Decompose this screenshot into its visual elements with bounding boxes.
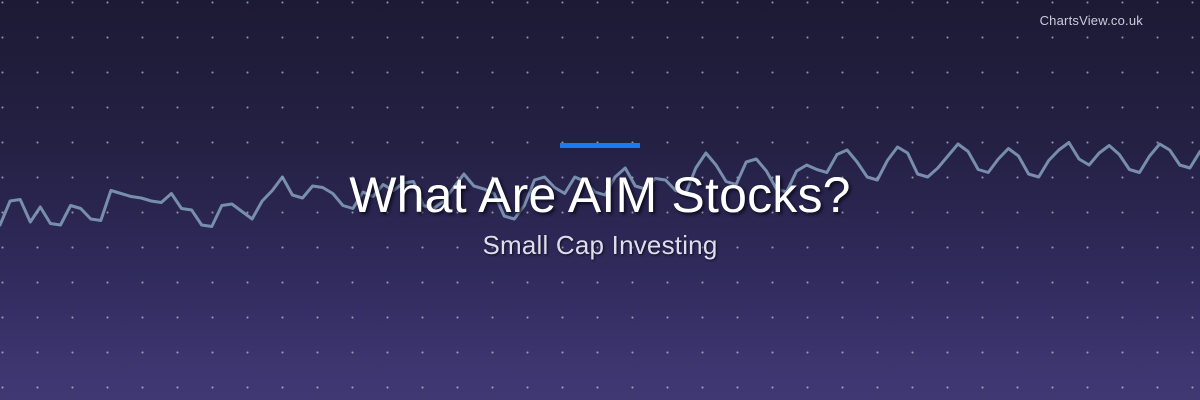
accent-bar xyxy=(560,143,640,148)
page-title: What Are AIM Stocks? xyxy=(349,170,850,220)
watermark-label: ChartsView.co.uk xyxy=(1040,13,1143,28)
hero-content: What Are AIM Stocks? Small Cap Investing xyxy=(0,0,1200,400)
page-subtitle: Small Cap Investing xyxy=(482,232,717,258)
hero-banner: What Are AIM Stocks? Small Cap Investing… xyxy=(0,0,1200,400)
